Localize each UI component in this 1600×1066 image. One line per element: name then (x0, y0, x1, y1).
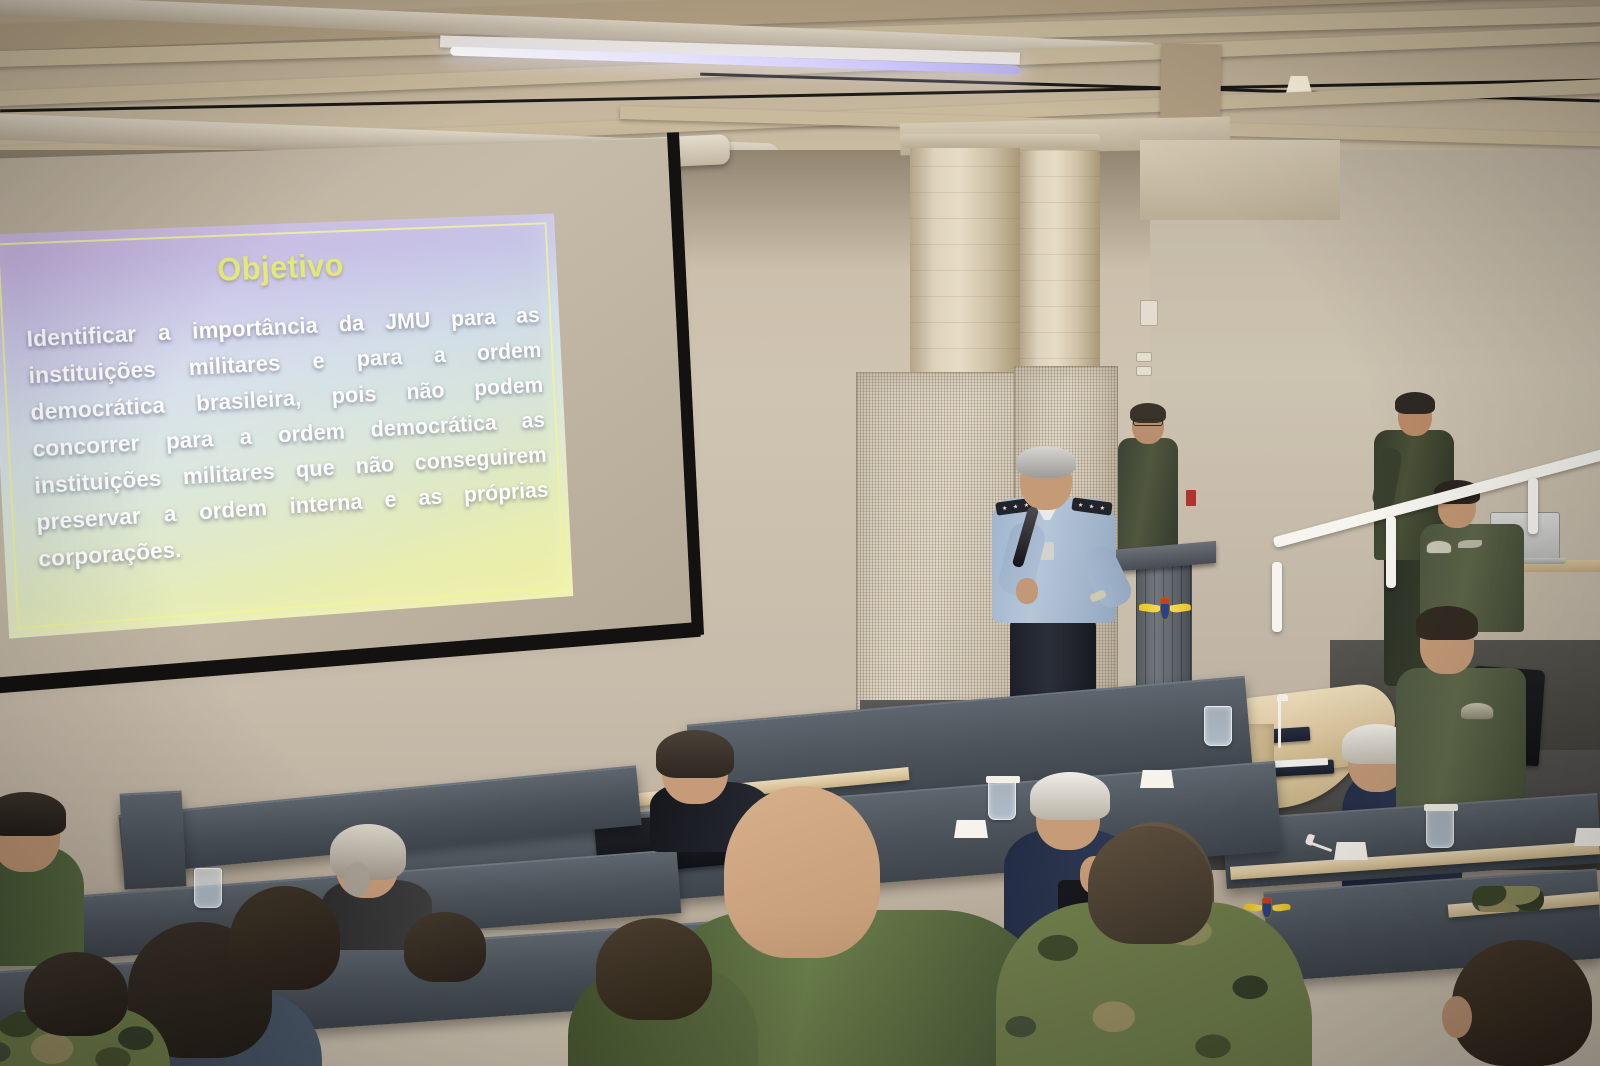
attendee-dark-suit-hair (656, 730, 734, 778)
water-glass (194, 868, 222, 908)
name-card (1334, 842, 1368, 860)
soldier-behind-podium (1118, 406, 1178, 556)
gooseneck-microphone[interactable] (1278, 700, 1281, 748)
attendee-camouflage-front-head (1088, 826, 1212, 944)
slide-body-text: Identificar a importância da JMU para as… (26, 297, 551, 577)
glass-lid (1424, 804, 1458, 811)
rank-star-icon (1002, 505, 1008, 511)
desk-tier-left-divider (120, 790, 187, 889)
handrail-post (1272, 562, 1282, 632)
handrail-post (1386, 516, 1396, 588)
eyeglasses-icon (1133, 419, 1163, 426)
unit-shoulder-patch (1460, 702, 1494, 720)
water-glass (1426, 808, 1454, 848)
attendee-olive-mid-head (596, 918, 712, 1020)
shoulder-patch (1426, 540, 1452, 554)
rank-star-icon (1078, 502, 1084, 508)
emblem-shield (1262, 897, 1271, 918)
attendee-white-hair-center-hair (1030, 772, 1110, 820)
soldier-hair (1395, 392, 1435, 414)
ponytail (344, 862, 370, 896)
name-card (1574, 828, 1600, 846)
seated-officer-flightsuit (1396, 612, 1526, 822)
aviator-wings-badge (1458, 540, 1482, 548)
attendee-olive-shirt-head (724, 786, 880, 958)
panel-surface (120, 790, 187, 889)
water-glass (988, 780, 1016, 820)
handrail-post (1528, 478, 1538, 534)
attendee-olive-left-hair (0, 792, 66, 836)
officer-hair (1416, 606, 1478, 640)
wall-lintel (1140, 140, 1340, 220)
glass-lid (986, 776, 1020, 783)
rank-star-icon (1013, 504, 1019, 510)
rank-star-icon (1100, 505, 1106, 511)
attendee-dark-hair-second-head (230, 886, 340, 990)
rank-star-icon (1089, 504, 1095, 510)
attendee-center-back-head (404, 912, 486, 982)
projector-glow (0, 214, 573, 639)
attendee-camouflage-left-head (24, 952, 128, 1036)
emblem-wing-left (1139, 603, 1160, 614)
wall-outlet-plate (1136, 366, 1152, 376)
column-capital (900, 134, 1100, 148)
air-force-wings-emblem (1139, 596, 1191, 622)
slide-title: Objetivo (0, 238, 557, 298)
attendee-right-front-ear (1442, 996, 1472, 1038)
emblem-wing-right (1170, 603, 1191, 614)
presenter-hair (1016, 446, 1076, 478)
presenter-hand (1016, 578, 1038, 604)
water-glass (1204, 706, 1232, 746)
wall-outlet-plate (1140, 300, 1158, 326)
emblem-shield (1160, 597, 1170, 620)
auditorium-photo: Objetivo Identificar a importância da JM… (0, 0, 1600, 1066)
name-card (954, 820, 988, 838)
soldier-torso (1118, 438, 1178, 556)
attendee-right-front-head (1452, 940, 1592, 1066)
projection-screen: Objetivo Identificar a importância da JM… (0, 138, 691, 679)
presentation-slide: Objetivo Identificar a importância da JM… (0, 214, 573, 639)
wall-outlet-plate (1136, 352, 1152, 362)
ceiling-lamp (1286, 76, 1312, 93)
attendee-camouflage-right-item (1472, 886, 1544, 912)
red-wall-marker (1186, 490, 1196, 506)
emblem-wing-right (1272, 902, 1290, 912)
name-card (1140, 770, 1174, 788)
round-concrete-column (910, 140, 1020, 390)
